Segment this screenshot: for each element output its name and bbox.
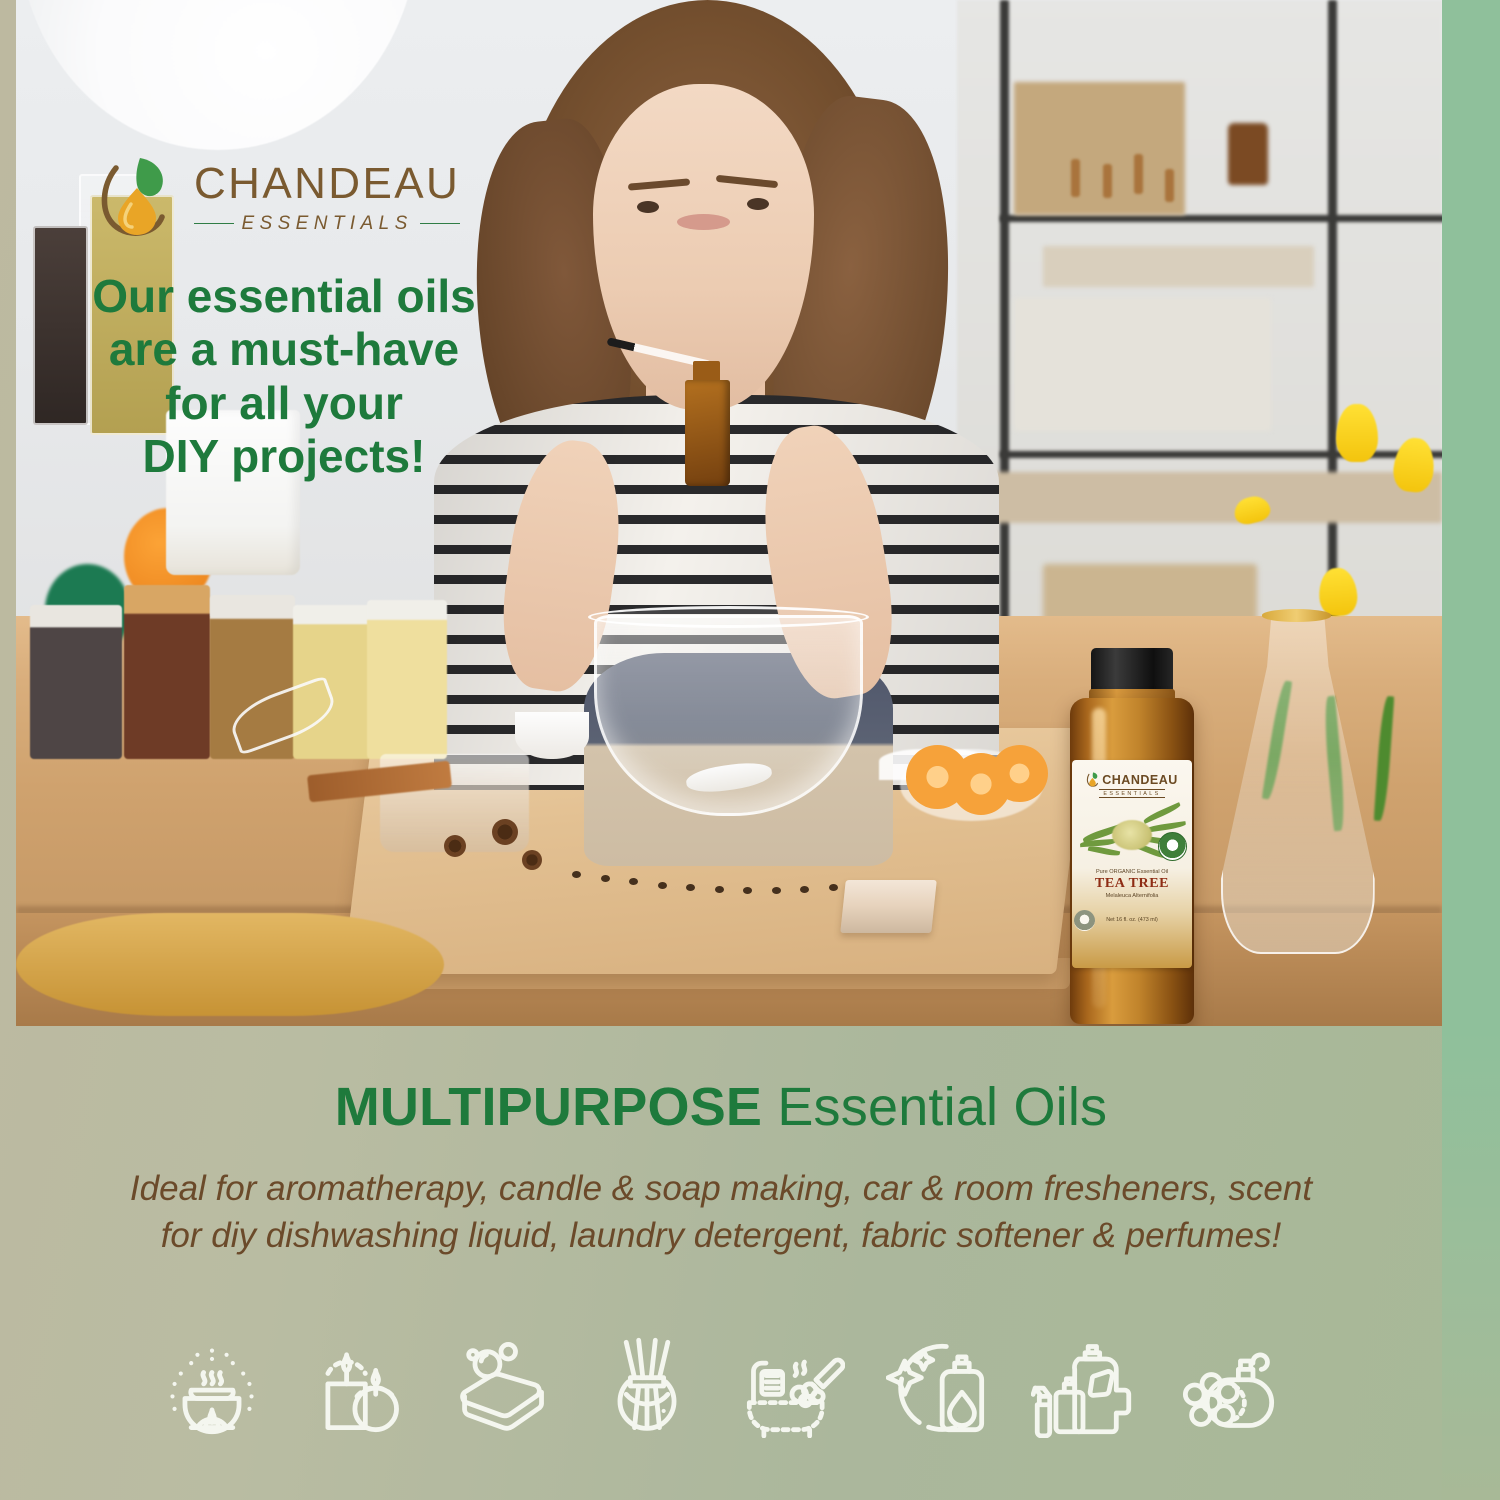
coffee-bean xyxy=(715,886,724,893)
headline: Our essential oils are a must-have for a… xyxy=(84,270,484,483)
coffee-bean xyxy=(829,884,838,891)
bathtub-dropper-icon xyxy=(741,1334,845,1438)
coffee-bean xyxy=(743,887,752,894)
coffee-bean xyxy=(686,884,695,891)
label-descriptor: Pure ORGANIC Essential Oil xyxy=(1096,869,1168,875)
headline-line-1: Our essential oils xyxy=(84,270,484,323)
carafe-gold-rim xyxy=(1262,609,1330,621)
bottom-band: MULTIPURPOSE Essential Oils Ideal for ar… xyxy=(0,1026,1442,1500)
coffee-bean xyxy=(800,886,809,893)
dish-soap-sparkle-icon xyxy=(886,1334,990,1438)
tagline-rule-right xyxy=(420,223,460,225)
headline-line-4: DIY projects! xyxy=(84,430,484,483)
paper-bag xyxy=(1014,82,1185,215)
frame-edge-right-fade xyxy=(1442,1030,1500,1500)
spice-jar xyxy=(124,585,210,759)
amber-jar xyxy=(1228,123,1268,185)
star-anise xyxy=(444,835,466,857)
brand-name: CHANDEAU xyxy=(194,162,460,206)
shelf-board xyxy=(957,472,1442,523)
shelf-post xyxy=(1328,0,1337,657)
shelf-rail xyxy=(1000,215,1442,222)
shelf-rail xyxy=(1000,451,1442,458)
soap-bar-icon xyxy=(450,1334,554,1438)
headline-line-3: for all your xyxy=(84,377,484,430)
label-brand-lockup: CHANDEAU xyxy=(1086,771,1178,788)
candle-pillar xyxy=(367,600,447,759)
shelf-bottle xyxy=(1134,154,1143,194)
band-subtitle-line-1: Ideal for aromatherapy, candle & soap ma… xyxy=(50,1166,1392,1213)
candle-icon xyxy=(305,1334,409,1438)
product-bottle[interactable]: CHANDEAU ESSENTIALS Pure ORGANIC Essenti… xyxy=(1058,648,1206,1024)
eye-right xyxy=(747,198,769,210)
eyebrow-left xyxy=(628,179,690,191)
brand-wordmark: CHANDEAU ESSENTIALS xyxy=(194,162,460,235)
white-box xyxy=(1014,298,1271,431)
label-net-contents: Net 16 fl. oz. (473 ml) xyxy=(1106,917,1158,923)
band-title: MULTIPURPOSE Essential Oils xyxy=(0,1080,1442,1134)
shelf-bottle xyxy=(1103,164,1112,198)
coffee-bean xyxy=(772,887,781,894)
gold-tray xyxy=(16,913,444,1016)
small-white-bowl xyxy=(515,712,589,759)
label-brand-sub: ESSENTIALS xyxy=(1099,789,1164,798)
lifestyle-photo: CHANDEAU ESSENTIALS Pure ORGANIC Essenti… xyxy=(16,0,1442,1026)
spice-jar xyxy=(30,605,121,759)
oil-droplet-leaf-logo xyxy=(1086,771,1099,788)
glass-bowl-rim xyxy=(588,606,869,628)
label-product-name: TEA TREE xyxy=(1095,876,1169,892)
label-latin-name: Melaleuca Alternifolia xyxy=(1106,893,1159,899)
tea-tree-flower xyxy=(1112,820,1152,850)
brand-tagline-row: ESSENTIALS xyxy=(194,213,460,235)
coffee-bean xyxy=(658,882,667,889)
dark-herb-tube xyxy=(33,226,88,425)
brand-tagline: ESSENTIALS xyxy=(241,213,412,235)
shelf-bottle xyxy=(1071,159,1080,197)
tagline-rule-left xyxy=(194,223,234,225)
headline-line-2: are a must-have xyxy=(84,323,484,376)
brand-logo: CHANDEAU ESSENTIALS xyxy=(94,152,460,244)
handmade-soap-bar xyxy=(840,880,937,933)
marketing-banner: CHANDEAU ESSENTIALS Pure ORGANIC Essenti… xyxy=(0,0,1500,1500)
use-case-icon-row xyxy=(160,1326,1280,1446)
bottle-cap xyxy=(1091,648,1173,692)
secondary-seal-icon xyxy=(1074,910,1095,931)
perfume-bottle-flower-icon xyxy=(1176,1334,1280,1438)
eye-left xyxy=(637,201,659,213)
oil-droplet-leaf-logo-icon xyxy=(94,152,180,244)
band-title-light: Essential Oils xyxy=(762,1077,1107,1137)
lips xyxy=(677,214,730,230)
shelf-bottle xyxy=(1165,169,1174,202)
band-title-bold: MULTIPURPOSE xyxy=(335,1077,762,1137)
bottle-label: CHANDEAU ESSENTIALS Pure ORGANIC Essenti… xyxy=(1072,760,1192,968)
band-subtitle: Ideal for aromatherapy, candle & soap ma… xyxy=(50,1166,1392,1260)
label-brand-name: CHANDEAU xyxy=(1102,773,1178,787)
laundry-detergent-icon xyxy=(1031,1334,1135,1438)
amber-oil-bottle xyxy=(685,380,729,486)
shelf-board xyxy=(1043,246,1314,287)
usda-organic-seal-icon xyxy=(1158,832,1187,861)
eyebrow-right xyxy=(716,175,778,188)
oil-burner-diffuser-icon xyxy=(160,1334,264,1438)
reed-diffuser-icon xyxy=(595,1334,699,1438)
shelf-post xyxy=(1000,0,1009,657)
band-subtitle-line-2: for diy dishwashing liquid, laundry dete… xyxy=(50,1213,1392,1260)
